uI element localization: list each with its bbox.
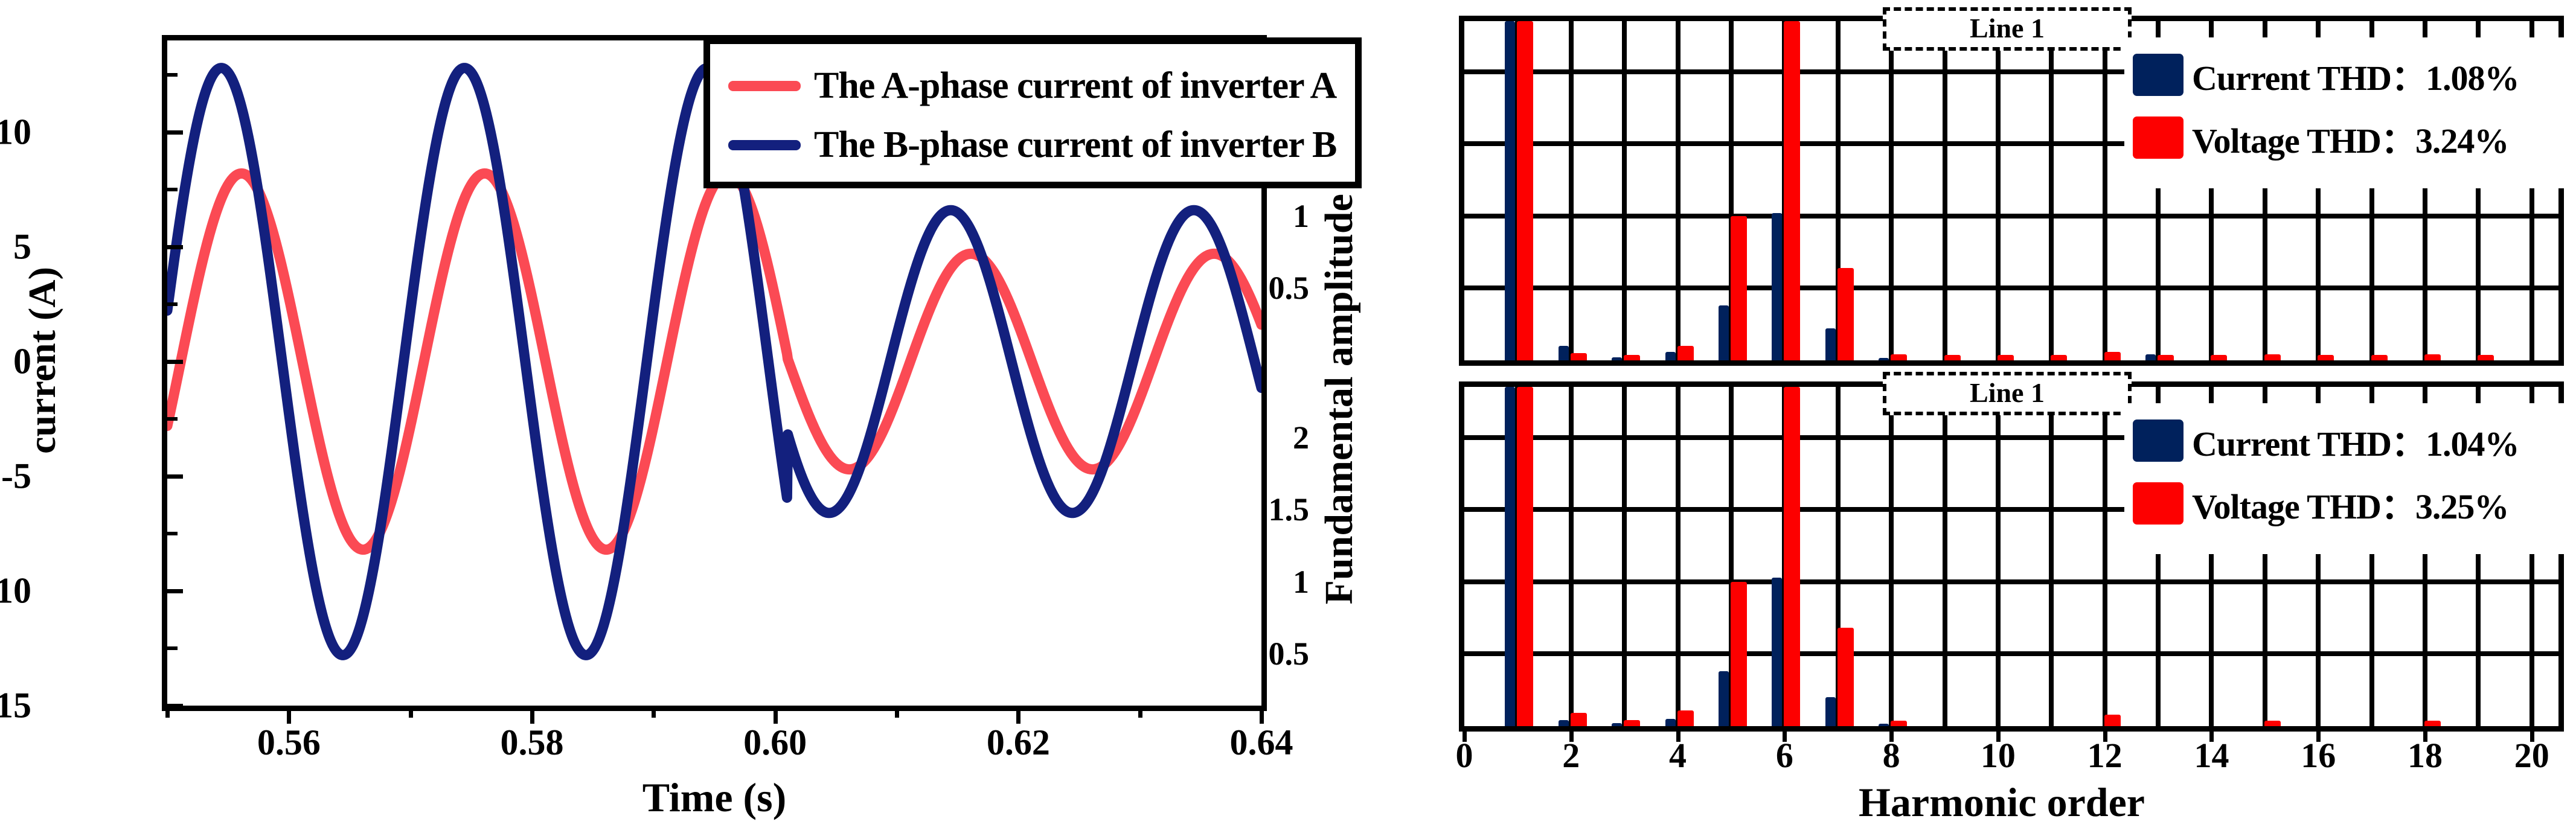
bar-voltage-harmonic-8 <box>1891 721 1907 726</box>
gridline-vertical <box>1622 21 1627 360</box>
right-y-tick-label: 2 <box>1293 419 1309 456</box>
right-y-tick-mark <box>1459 142 1472 146</box>
gridline-vertical <box>1889 21 1894 360</box>
gridline-vertical <box>1889 387 1894 726</box>
right-x-tick-mark <box>1889 726 1894 742</box>
right-y-tick-label: 1 <box>1293 197 1309 235</box>
legend-swatch-square-icon <box>2133 116 2184 159</box>
bar-current-harmonic-4 <box>1665 719 1676 726</box>
left-y-tick-mark <box>167 589 183 593</box>
left-x-tick-mark <box>1016 706 1020 724</box>
right-y-tick-label: 0.5 <box>1269 635 1310 672</box>
right-y-tick-mark <box>1459 214 1472 219</box>
bar-voltage-harmonic-9 <box>1944 355 1961 360</box>
legend-label: The B-phase current of inverter B <box>814 124 1336 167</box>
gridline-vertical <box>1676 21 1680 360</box>
right-y-tick-mark <box>1459 508 1472 512</box>
gridline-vertical <box>1996 21 2001 360</box>
left-y-tick-mark <box>167 474 183 479</box>
bar-voltage-harmonic-2 <box>1571 713 1587 726</box>
left-y-minor-tick-mark <box>167 417 178 421</box>
bar-current-harmonic-8 <box>1879 724 1889 726</box>
gridline-horizontal <box>1464 214 2558 219</box>
left-x-minor-tick-mark <box>652 706 656 718</box>
bar-voltage-harmonic-5 <box>1731 216 1747 360</box>
bar-current-harmonic-3 <box>1612 357 1622 360</box>
legend-item-current-thd[interactable]: Current THD：1.04% <box>2133 416 2519 465</box>
gridline-vertical <box>2103 387 2107 726</box>
legend-item-b-phase[interactable]: The B-phase current of inverter B <box>728 124 1336 166</box>
right-x-tick-mark <box>1569 726 1574 742</box>
right-x-tick-mark <box>2316 726 2321 742</box>
gridline-vertical <box>1943 387 1947 726</box>
left-y-tick-mark <box>167 130 183 135</box>
bar-current-harmonic-1 <box>1505 387 1515 726</box>
left-y-minor-tick-mark <box>167 302 178 306</box>
bar-voltage-harmonic-1 <box>1517 387 1533 726</box>
right-y-tick-mark <box>1459 70 1472 74</box>
left-y-tick-label: 0 <box>13 341 31 383</box>
legend-label: The A-phase current of inverter A <box>814 65 1336 107</box>
left-x-tick-mark <box>774 706 778 724</box>
left-x-tick-mark <box>1260 706 1264 724</box>
bar-voltage-harmonic-12 <box>2104 715 2121 726</box>
legend-swatch-line-icon <box>728 81 801 91</box>
bar-current-harmonic-2 <box>1559 720 1569 726</box>
bar-voltage-harmonic-14 <box>2211 355 2227 360</box>
right-x-tick-mark <box>1996 726 2001 742</box>
subplot-bottom-tag: Line 1 <box>1883 372 2132 415</box>
bar-voltage-harmonic-7 <box>1837 268 1854 360</box>
right-x-tick-mark <box>2423 726 2427 742</box>
left-y-tick-mark <box>167 245 183 249</box>
legend-item-voltage-thd[interactable]: Voltage THD：3.25% <box>2133 479 2508 528</box>
subplot-bottom-legend: Current THD：1.04% Voltage THD：3.25% <box>2124 403 2569 554</box>
left-x-tick-label: 0.58 <box>501 722 564 764</box>
right-y-tick-label: 0.5 <box>1269 269 1310 307</box>
right-y-tick-label: 1.5 <box>1269 491 1310 528</box>
right-y-tick-label: 1 <box>1293 563 1309 601</box>
legend-label: Voltage THD：3.24% <box>2192 112 2508 163</box>
bar-current-harmonic-3 <box>1612 723 1622 726</box>
left-x-axis-title: Time (s) <box>162 774 1267 821</box>
bar-current-harmonic-1 <box>1505 21 1515 360</box>
bar-voltage-harmonic-11 <box>2051 355 2067 360</box>
left-x-minor-tick-mark <box>895 706 899 718</box>
left-x-minor-tick-mark <box>409 706 413 718</box>
right-x-axis-title: Harmonic order <box>1449 779 2554 826</box>
legend-swatch-square-icon <box>2133 482 2184 525</box>
bar-voltage-harmonic-6 <box>1784 21 1800 360</box>
bar-voltage-harmonic-19 <box>2478 355 2494 360</box>
left-y-minor-tick-mark <box>167 646 178 650</box>
figure-root: current (A) 1050-5-10-15 0.560.580.600.6… <box>0 0 2576 839</box>
left-y-minor-tick-mark <box>167 532 178 535</box>
left-y-tick-label: -15 <box>0 685 31 727</box>
gridline-vertical <box>1622 387 1627 726</box>
subplot-top-tag: Line 1 <box>1883 7 2132 51</box>
right-y-tick-mark <box>1459 286 1472 290</box>
bar-voltage-harmonic-17 <box>2371 355 2388 360</box>
left-x-tick-mark <box>530 706 534 724</box>
bar-current-harmonic-7 <box>1825 697 1836 726</box>
legend-swatch-line-icon <box>728 140 801 150</box>
gridline-vertical <box>1996 387 2001 726</box>
legend-item-current-thd[interactable]: Current THD：1.08% <box>2133 51 2519 99</box>
left-x-tick-label: 0.62 <box>987 722 1050 764</box>
bar-current-harmonic-6 <box>1772 578 1782 726</box>
gridline-vertical <box>1676 387 1680 726</box>
bar-voltage-harmonic-7 <box>1837 628 1854 726</box>
right-x-tick-mark <box>2103 726 2107 742</box>
bar-current-harmonic-13 <box>2145 354 2156 360</box>
bar-voltage-harmonic-8 <box>1891 354 1907 360</box>
bar-current-harmonic-2 <box>1559 346 1569 360</box>
legend-swatch-square-icon <box>2133 54 2184 96</box>
left-y-tick-label: 5 <box>13 226 31 268</box>
left-legend: The A-phase current of inverter A The B-… <box>703 37 1362 188</box>
right-x-tick-mark <box>1463 726 1467 742</box>
bar-voltage-harmonic-4 <box>1677 346 1694 360</box>
right-x-tick-mark <box>2209 726 2214 742</box>
left-x-tick-label: 0.64 <box>1230 722 1293 764</box>
gridline-vertical <box>1569 387 1574 726</box>
bar-voltage-harmonic-5 <box>1731 582 1747 726</box>
bar-voltage-harmonic-13 <box>2158 355 2174 360</box>
bar-voltage-harmonic-1 <box>1517 21 1533 360</box>
gridline-horizontal <box>1464 286 2558 290</box>
bar-voltage-harmonic-15 <box>2264 721 2281 726</box>
bar-voltage-harmonic-2 <box>1571 353 1587 360</box>
right-x-tick-mark <box>1783 726 1787 742</box>
gridline-vertical <box>2103 21 2107 360</box>
left-y-tick-label: 10 <box>0 112 31 153</box>
right-y-tick-mark <box>1459 580 1472 584</box>
left-y-tick-label: -5 <box>1 456 31 497</box>
bar-voltage-harmonic-15 <box>2264 354 2281 360</box>
right-y-tick-mark <box>1459 652 1472 656</box>
gridline-vertical <box>1569 21 1574 360</box>
gridline-horizontal <box>1464 651 2558 656</box>
bar-voltage-harmonic-16 <box>2318 355 2334 360</box>
right-y-tick-mark <box>1459 436 1472 440</box>
bar-current-harmonic-6 <box>1772 213 1782 360</box>
bar-current-harmonic-7 <box>1825 328 1836 360</box>
left-y-minor-tick-mark <box>167 188 178 191</box>
left-y-tick-mark <box>167 360 183 364</box>
legend-label: Voltage THD：3.25% <box>2192 478 2508 529</box>
legend-swatch-square-icon <box>2133 419 2184 462</box>
legend-label: Current THD：1.04% <box>2192 415 2519 466</box>
bar-current-harmonic-5 <box>1719 671 1729 726</box>
bar-voltage-harmonic-4 <box>1677 710 1694 726</box>
bar-voltage-harmonic-18 <box>2424 354 2441 360</box>
left-x-minor-tick-mark <box>1138 706 1142 718</box>
left-x-tick-label: 0.56 <box>257 722 321 764</box>
gridline-vertical <box>2049 21 2054 360</box>
right-x-tick-mark <box>2530 726 2534 742</box>
left-x-tick-mark <box>287 706 291 724</box>
bar-voltage-harmonic-18 <box>2424 721 2441 726</box>
left-x-minor-tick-mark <box>165 706 170 718</box>
bar-current-harmonic-8 <box>1879 358 1889 360</box>
gridline-vertical <box>1943 21 1947 360</box>
bar-voltage-harmonic-3 <box>1624 720 1640 726</box>
bar-voltage-harmonic-10 <box>1998 355 2014 360</box>
bar-voltage-harmonic-12 <box>2104 352 2121 360</box>
left-y-tick-label: -10 <box>0 570 31 612</box>
bar-voltage-harmonic-6 <box>1784 387 1800 726</box>
left-x-tick-label: 0.60 <box>743 722 807 764</box>
legend-item-voltage-thd[interactable]: Voltage THD：3.24% <box>2133 113 2508 162</box>
right-x-tick-mark <box>1676 726 1680 742</box>
left-panel-waveform: current (A) 1050-5-10-15 0.560.580.600.6… <box>0 0 1304 839</box>
gridline-vertical <box>2049 387 2054 726</box>
left-y-minor-tick-mark <box>167 73 178 77</box>
gridline-horizontal <box>1464 579 2558 584</box>
legend-label: Current THD：1.08% <box>2192 49 2519 100</box>
bar-current-harmonic-4 <box>1665 352 1676 360</box>
bar-voltage-harmonic-3 <box>1624 355 1640 360</box>
bar-current-harmonic-5 <box>1719 305 1729 360</box>
legend-item-a-phase[interactable]: The A-phase current of inverter A <box>728 65 1336 107</box>
subplot-top-legend: Current THD：1.08% Voltage THD：3.24% <box>2124 37 2569 188</box>
